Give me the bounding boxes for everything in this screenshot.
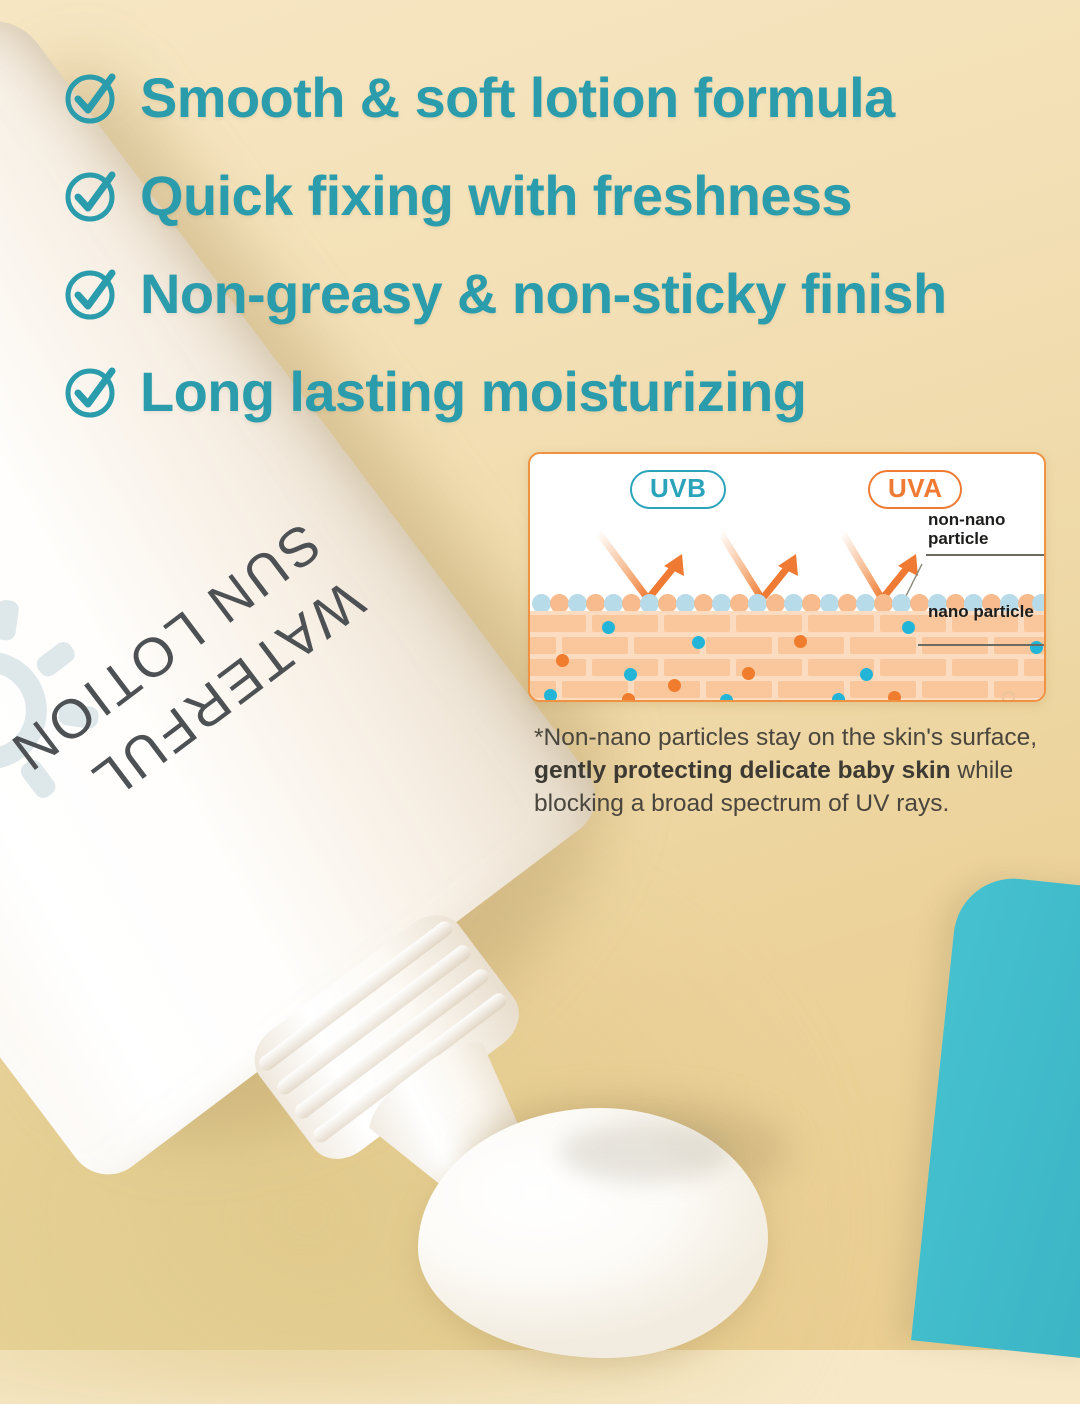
feature-bullet-list: Smooth & soft lotion formula Quick fixin…	[62, 48, 1052, 440]
feature-bullet-1-label: Smooth & soft lotion formula	[140, 65, 895, 130]
skin-layer	[530, 611, 1046, 702]
check-circle-icon	[62, 165, 122, 225]
feature-bullet-4: Long lasting moisturizing	[62, 342, 1052, 440]
uv-protection-diagram: UVB UVA	[528, 452, 1046, 702]
feature-bullet-2-label: Quick fixing with freshness	[140, 163, 852, 228]
lotion-drop-highlight	[560, 1122, 730, 1182]
feature-bullet-4-label: Long lasting moisturizing	[140, 359, 806, 424]
check-circle-icon	[62, 67, 122, 127]
nano-particle-label: nano particle	[928, 602, 1034, 621]
caption-part-1: *Non-nano particles stay on the skin's s…	[534, 724, 1037, 751]
non-nano-particle-label: non-nano particle	[928, 510, 1005, 549]
diagram-caption: *Non-nano particles stay on the skin's s…	[534, 722, 1044, 820]
check-circle-icon	[62, 361, 122, 421]
nano-label-rule	[918, 644, 1044, 646]
caption-bold: gently protecting delicate baby skin	[534, 757, 951, 784]
non-nano-label-rule	[926, 554, 1044, 556]
feature-bullet-1: Smooth & soft lotion formula	[62, 48, 1052, 146]
feature-bullet-2: Quick fixing with freshness	[62, 146, 1052, 244]
check-circle-icon	[62, 263, 122, 323]
feature-bullet-3: Non-greasy & non-sticky finish	[62, 244, 1052, 342]
feature-bullet-3-label: Non-greasy & non-sticky finish	[140, 261, 947, 326]
